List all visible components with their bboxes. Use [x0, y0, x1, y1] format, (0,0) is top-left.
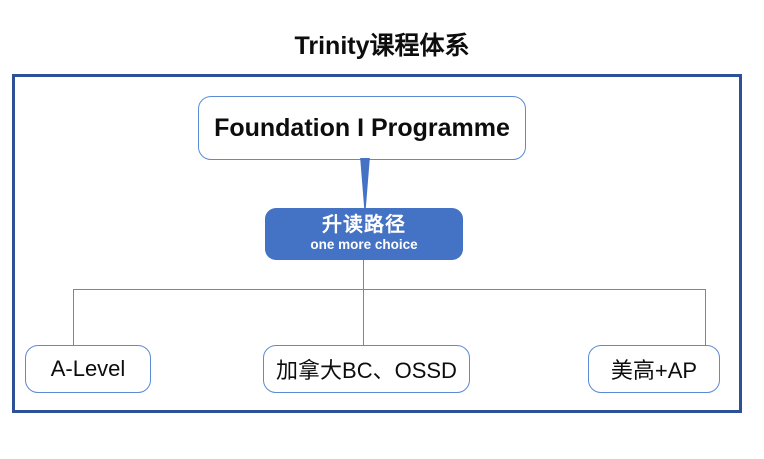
node-pathway[interactable]: 升读路径 one more choice	[265, 208, 463, 260]
connector-drop-right	[705, 289, 706, 345]
node-canada-bc-ossd-label: 加拿大BC、OSSD	[276, 353, 457, 385]
connector-drop-left	[73, 289, 74, 345]
node-us-highschool-ap-label: 美高+AP	[611, 353, 697, 385]
node-foundation-label: Foundation I Programme	[214, 114, 510, 143]
node-pathway-title: 升读路径	[322, 215, 406, 237]
node-us-highschool-ap[interactable]: 美高+AP	[588, 345, 720, 393]
node-foundation-programme[interactable]: Foundation I Programme	[198, 96, 526, 160]
node-a-level[interactable]: A-Level	[25, 345, 151, 393]
node-pathway-subtitle: one more choice	[310, 238, 417, 253]
diagram-frame: Foundation I Programme 升读路径 one more cho…	[12, 74, 742, 413]
node-canada-bc-ossd[interactable]: 加拿大BC、OSSD	[263, 345, 470, 393]
page-title: Trinity课程体系	[0, 26, 764, 62]
connector-horizontal-bus	[73, 289, 706, 290]
arrow-down-icon	[354, 158, 376, 210]
connector-drop-center	[363, 289, 364, 345]
node-a-level-label: A-Level	[51, 356, 126, 382]
